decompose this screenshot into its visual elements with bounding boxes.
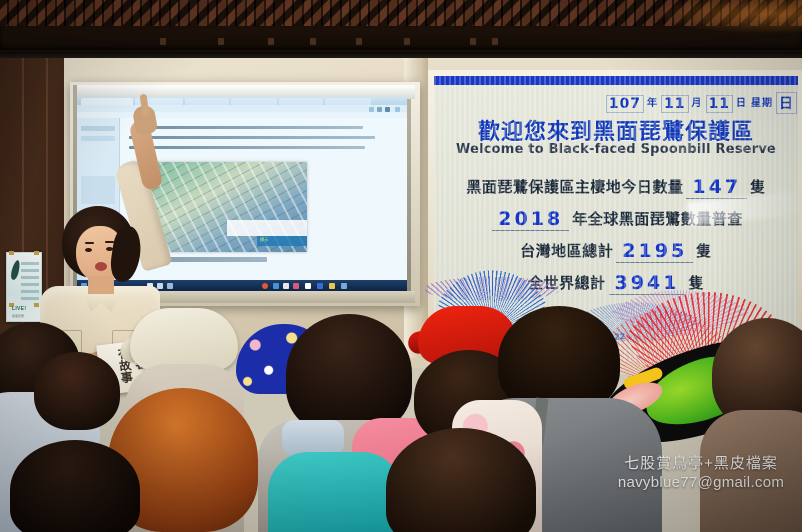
weekday-label: 星期 — [751, 94, 773, 109]
board-title-en: Welcome to Black-faced Spoonbill Reserve — [434, 142, 798, 157]
poster-live-label: LIVE! — [12, 306, 26, 312]
poster-text-lines — [21, 262, 39, 300]
audience-head-dark-center — [286, 314, 412, 434]
white-cap — [130, 308, 238, 370]
board-title-zh: 歡迎您來到黑面琵鷺保護區 — [434, 114, 798, 146]
date-year: 107 — [606, 95, 644, 113]
ceiling-light-glow — [652, 0, 802, 34]
poster-sub-label: 黑面琵鷺 — [12, 314, 24, 318]
watermark: 七股賞鳥亭+黑皮檔案 navyblue77@gmail.com — [596, 452, 802, 491]
weekday-value: 日 — [776, 92, 797, 114]
watermark-line-1: 七股賞鳥亭+黑皮檔案 — [596, 452, 802, 473]
date-month-unit: 月 — [692, 94, 703, 109]
stat-value-taiwan: 2195 — [616, 240, 693, 263]
date-year-unit: 年 — [647, 94, 658, 109]
spoonbill-bill-icon — [10, 259, 22, 280]
browser-toolbar — [77, 105, 407, 112]
stat-label-census: 年全球黑面琵鷺數量普查 — [572, 210, 743, 228]
stat-value-census-year: 2018 — [492, 208, 569, 231]
audience-head-bottom-left — [10, 440, 140, 532]
stat-unit-today: 隻 — [750, 178, 766, 196]
stat-label-today: 黑面琵鷺保護區主棲地今日數量 — [466, 178, 683, 196]
audience-scarf-center — [282, 420, 344, 456]
stat-row-census: 2018年全球黑面琵鷺數量普查 — [434, 208, 798, 231]
stat-unit-taiwan: 隻 — [696, 242, 712, 260]
audience-teal-shirt — [268, 452, 402, 532]
date-day-unit: 日 — [736, 94, 747, 109]
stat-row-today: 黑面琵鷺保護區主棲地今日數量147隻 — [434, 176, 798, 199]
browser-tab-bar — [77, 97, 407, 105]
map-image-label: 標示 — [260, 237, 269, 243]
stat-row-taiwan: 台灣地區總計2195隻 — [434, 240, 798, 263]
stat-unit-world: 隻 — [688, 274, 704, 292]
stat-value-today: 147 — [686, 176, 747, 199]
date-month: 11 — [661, 95, 688, 113]
stat-label-taiwan: 台灣地區總計 — [520, 242, 613, 260]
board-glare — [687, 190, 798, 226]
watermark-line-2: navyblue77@gmail.com — [596, 474, 802, 491]
photo-scene: LIVE! 黑面琵鷺 — [0, 0, 802, 532]
wall-poster: LIVE! 黑面琵鷺 — [6, 252, 42, 322]
audience-head-2 — [34, 352, 120, 430]
info-board-topbar — [434, 76, 798, 85]
board-date-row: 107年11月11日星期日 — [434, 92, 798, 114]
date-day: 11 — [706, 95, 733, 113]
